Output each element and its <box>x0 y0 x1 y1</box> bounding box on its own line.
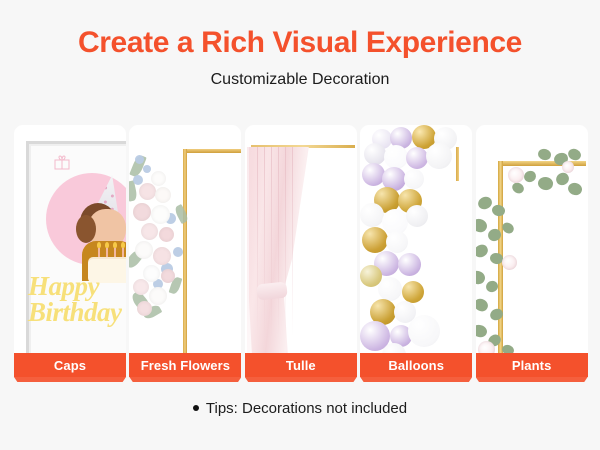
header: Create a Rich Visual Experience Customiz… <box>0 0 600 89</box>
card-image-plants <box>476 125 588 363</box>
hair-side-shape <box>76 215 96 243</box>
child-illustration <box>72 187 126 282</box>
card-tulle[interactable]: Tulle <box>245 125 355 385</box>
card-fresh-flowers[interactable]: Fresh Flowers <box>129 125 239 385</box>
tips-note: Tips: Decorations not included <box>0 400 600 417</box>
promo-banner: Create a Rich Visual Experience Customiz… <box>0 0 600 450</box>
rose-cluster <box>129 165 203 325</box>
card-label-tulle[interactable]: Tulle <box>245 353 357 377</box>
card-image-balloons <box>360 125 472 363</box>
tulle-folds <box>249 147 309 363</box>
page-title: Create a Rich Visual Experience <box>0 26 600 59</box>
card-label-text: Balloons <box>388 358 444 373</box>
card-label-plants[interactable]: Plants <box>476 353 588 377</box>
greeting-line-2: Birthday <box>28 299 126 325</box>
card-label-text: Caps <box>54 358 86 373</box>
tips-text: Tips: Decorations not included <box>206 400 407 417</box>
card-label-text: Plants <box>512 358 552 373</box>
card-label-caps[interactable]: Caps <box>14 353 126 377</box>
card-plants[interactable]: Plants <box>476 125 586 385</box>
card-image-fresh-flowers <box>129 125 241 363</box>
card-label-text: Tulle <box>286 358 316 373</box>
card-label-fresh-flowers[interactable]: Fresh Flowers <box>129 353 241 377</box>
card-image-tulle <box>245 125 357 363</box>
page-subtitle: Customizable Decoration <box>0 71 600 89</box>
overlay-greeting-text: Happy Birthday <box>28 273 126 326</box>
decoration-card-row: Happy Birthday Caps <box>14 125 586 385</box>
white-roses <box>476 155 588 363</box>
gift-icon <box>54 155 70 170</box>
tulle-tie-shape <box>256 281 288 300</box>
greeting-line-1: Happy <box>28 273 126 299</box>
card-balloons[interactable]: Balloons <box>360 125 470 385</box>
balloon-garland <box>360 125 472 363</box>
card-image-caps: Happy Birthday <box>14 125 126 363</box>
bullet-icon <box>193 405 199 411</box>
card-label-balloons[interactable]: Balloons <box>360 353 472 377</box>
card-caps[interactable]: Happy Birthday Caps <box>14 125 124 385</box>
card-label-text: Fresh Flowers <box>141 358 230 373</box>
